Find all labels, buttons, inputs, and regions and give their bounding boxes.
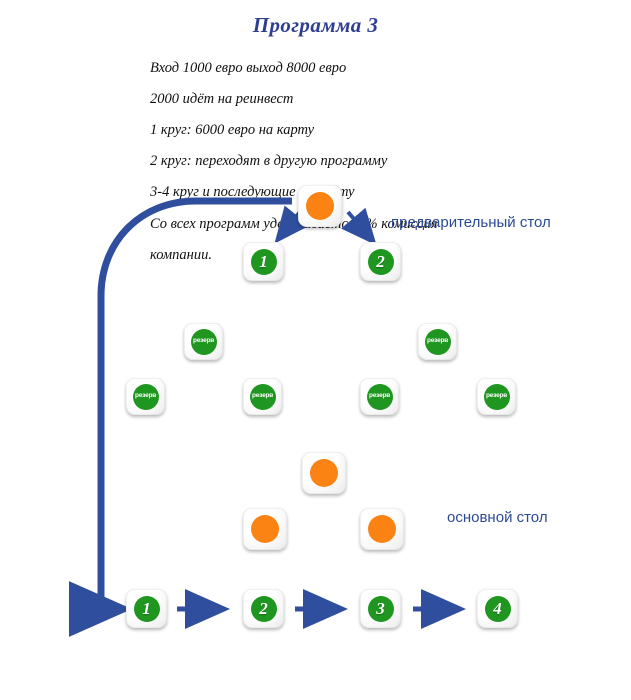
description-line: 2 круг: переходят в другую программу bbox=[150, 154, 490, 170]
node-label: 2 bbox=[376, 253, 385, 270]
node-label: резерв bbox=[369, 394, 390, 400]
node-reserve-upper-left[interactable]: резерв bbox=[184, 323, 223, 360]
node-label: резерв bbox=[135, 394, 156, 400]
page-title: Программа 3 bbox=[0, 13, 631, 38]
node-bottom-3[interactable]: 3 bbox=[360, 589, 401, 628]
node-label: 1 bbox=[259, 253, 268, 270]
node-label: резерв bbox=[252, 394, 273, 400]
green-disc-icon: резерв bbox=[484, 384, 510, 410]
node-reserve-lower-4[interactable]: резерв bbox=[477, 378, 516, 415]
green-disc-icon: резерв bbox=[191, 329, 217, 355]
green-disc-icon: 2 bbox=[251, 596, 277, 622]
node-preliminary-slot-2[interactable]: 2 bbox=[360, 242, 401, 281]
node-reserve-lower-3[interactable]: резерв bbox=[360, 378, 399, 415]
orange-disc-icon bbox=[310, 459, 338, 487]
node-main-slot-2[interactable] bbox=[360, 508, 404, 550]
orange-disc-icon bbox=[306, 192, 334, 220]
node-reserve-upper-right[interactable]: резерв bbox=[418, 323, 457, 360]
node-label: 1 bbox=[142, 600, 151, 617]
node-reserve-lower-1[interactable]: резерв bbox=[126, 378, 165, 415]
green-disc-icon: 4 bbox=[485, 596, 511, 622]
green-disc-icon: 3 bbox=[368, 596, 394, 622]
description-line: 1 круг: 6000 евро на карту bbox=[150, 123, 490, 139]
green-disc-icon: резерв bbox=[133, 384, 159, 410]
node-main-slot-1[interactable] bbox=[243, 508, 287, 550]
node-bottom-1[interactable]: 1 bbox=[126, 589, 167, 628]
node-label: 4 bbox=[493, 600, 502, 617]
green-disc-icon: 1 bbox=[251, 249, 277, 275]
node-bottom-4[interactable]: 4 bbox=[477, 589, 518, 628]
green-disc-icon: резерв bbox=[425, 329, 451, 355]
description-block: Вход 1000 евро выход 8000 евро 2000 идёт… bbox=[150, 45, 490, 279]
description-line: 2000 идёт на реинвест bbox=[150, 92, 490, 108]
green-disc-icon: 2 bbox=[368, 249, 394, 275]
green-disc-icon: резерв bbox=[367, 384, 393, 410]
green-disc-icon: 1 bbox=[134, 596, 160, 622]
node-label: резерв bbox=[193, 339, 214, 345]
orange-disc-icon bbox=[251, 515, 279, 543]
green-disc-icon: резерв bbox=[250, 384, 276, 410]
orange-disc-icon bbox=[368, 515, 396, 543]
node-preliminary-head[interactable] bbox=[298, 185, 342, 227]
label-preliminary-table: предварительный стол bbox=[391, 214, 551, 231]
node-label: резерв bbox=[427, 339, 448, 345]
node-bottom-2[interactable]: 2 bbox=[243, 589, 284, 628]
label-main-table: основной стол bbox=[447, 509, 548, 526]
diagram-canvas: Программа 3 Вход 1000 евро выход 8000 ев… bbox=[0, 0, 631, 700]
node-label: 3 bbox=[376, 600, 385, 617]
node-main-head[interactable] bbox=[302, 452, 346, 494]
node-preliminary-slot-1[interactable]: 1 bbox=[243, 242, 284, 281]
description-line: Вход 1000 евро выход 8000 евро bbox=[150, 61, 490, 77]
node-reserve-lower-2[interactable]: резерв bbox=[243, 378, 282, 415]
node-label: 2 bbox=[259, 600, 268, 617]
description-line: компании. bbox=[150, 248, 490, 264]
node-label: резерв bbox=[486, 394, 507, 400]
